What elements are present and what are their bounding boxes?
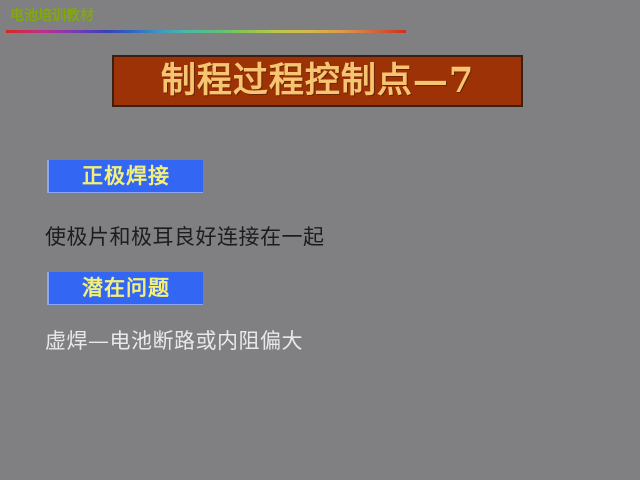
section-heading-label: 正极焊接 [82,164,170,188]
slide-title-box: 制程过程控制点—7 [112,55,523,107]
rainbow-divider-rule [6,30,406,33]
section-heading-box-positive-welding: 正极焊接 [47,160,203,193]
section-heading-box-potential-issues: 潜在问题 [47,272,203,305]
section-heading-label: 潜在问题 [82,276,170,300]
section-body-text-potential-issues: 虚焊—电池断路或内阻偏大 [45,328,303,354]
section-body-text-positive-welding: 使极片和极耳良好连接在一起 [45,224,325,250]
slide-header-label: 电池培训教材 [10,7,94,25]
presentation-slide: 电池培训教材 制程过程控制点—7 正极焊接 使极片和极耳良好连接在一起 潜在问题… [0,0,640,480]
slide-title-text: 制程过程控制点—7 [161,61,474,101]
